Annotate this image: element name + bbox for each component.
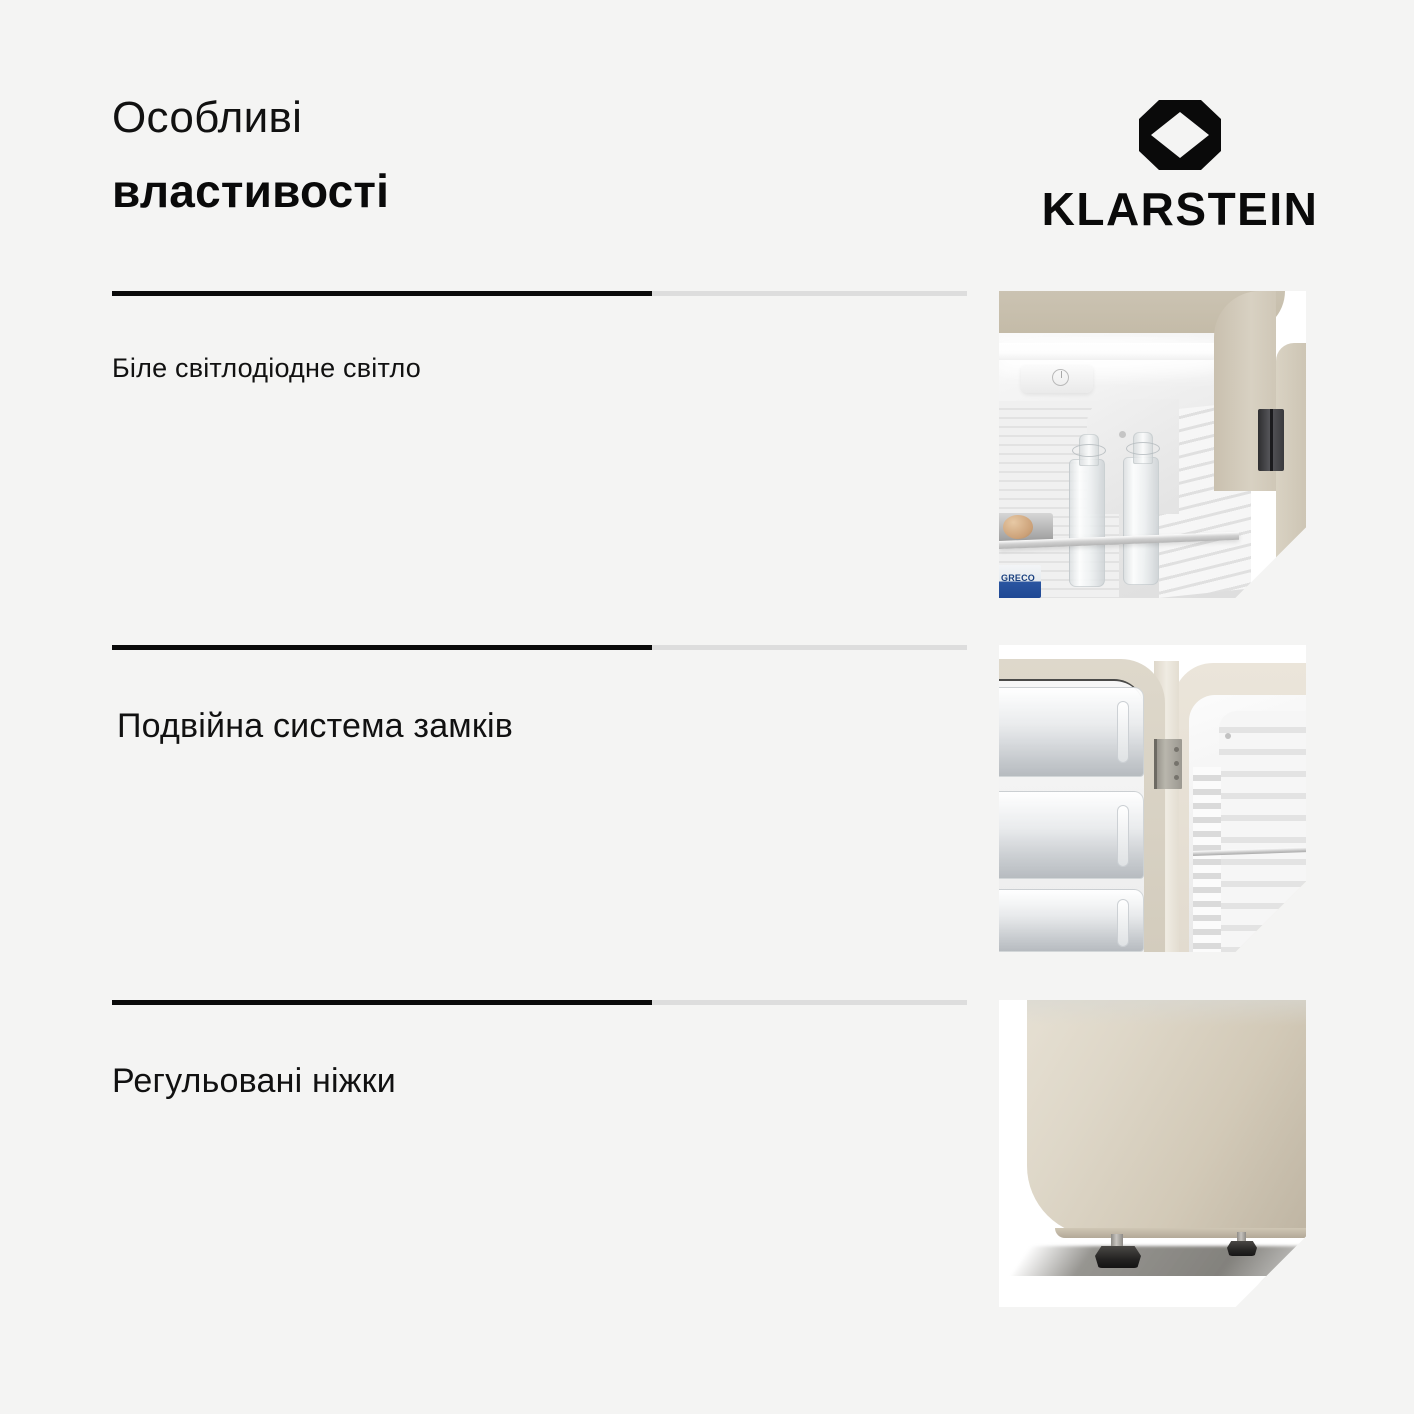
feature-label-white-led-light: Біле світлодіодне світло — [112, 353, 421, 384]
feature-page: Особливі властивості KLARSTEIN Біле світ… — [0, 0, 1414, 1414]
feature-image-white-led-light: GRECO — [999, 291, 1306, 598]
floor-surface — [999, 1276, 1306, 1307]
feature-divider-fill — [112, 291, 652, 296]
feature-row: Біле світлодіодне світло — [112, 291, 1312, 598]
feature-divider-fill — [112, 645, 652, 650]
feature-row: Подвійна система замків — [112, 645, 1312, 952]
feature-divider — [112, 645, 967, 650]
feature-row: Регульовані ніжки — [112, 1000, 1312, 1307]
glass-bottle — [1069, 459, 1105, 587]
adjustable-foot — [1095, 1246, 1141, 1268]
door-bin-lip — [1117, 701, 1129, 763]
hinge-screw — [1174, 747, 1179, 752]
yogurt-label-text: GRECO — [999, 573, 1043, 583]
led-light-strip — [999, 343, 1227, 360]
image-canvas: GRECO — [999, 291, 1306, 598]
hinge-screw — [1174, 775, 1179, 780]
feature-image-double-lock-system — [999, 645, 1306, 952]
feature-divider — [112, 291, 967, 296]
fridge-body-bottom — [1027, 1000, 1306, 1236]
glass-bottle — [1123, 457, 1159, 585]
adjustable-foot — [1227, 1241, 1257, 1256]
cavity-fitting — [1225, 733, 1231, 739]
fridge-plinth — [1055, 1228, 1306, 1238]
feature-label-double-lock-system: Подвійна система замків — [117, 707, 513, 746]
feature-image-adjustable-feet — [999, 1000, 1306, 1307]
door-bin-lip — [1117, 899, 1129, 947]
fridge-back-wall — [1219, 711, 1306, 952]
thermostat-dial-icon — [1052, 369, 1069, 386]
feature-divider-fill — [112, 1000, 652, 1005]
door-bin-lip — [1117, 805, 1129, 867]
image-canvas — [999, 645, 1306, 952]
feature-divider — [112, 1000, 967, 1005]
door-hinge-pin — [1154, 739, 1157, 789]
shelf-rails — [1193, 767, 1221, 952]
body-highlight — [1027, 1000, 1306, 1026]
egg — [1003, 515, 1033, 539]
panel-screw — [1119, 431, 1126, 438]
image-canvas — [999, 1000, 1306, 1307]
feature-label-adjustable-feet: Регульовані ніжки — [112, 1062, 396, 1101]
door-hinge-pin — [1270, 409, 1273, 471]
hinge-screw — [1174, 761, 1179, 766]
feature-list: Біле світлодіодне світло — [0, 0, 1414, 1414]
